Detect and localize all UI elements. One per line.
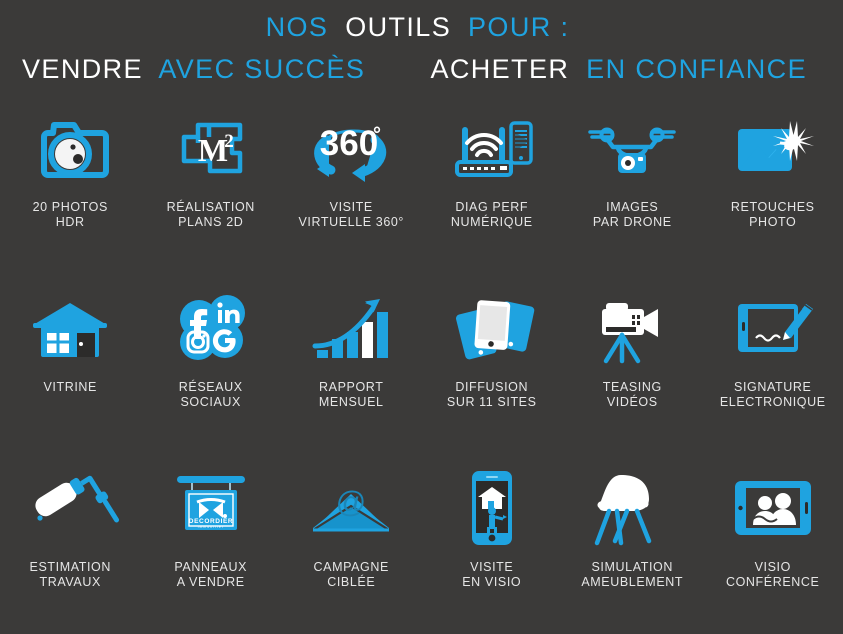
bar-chart-growth-icon — [281, 286, 422, 370]
tool-label: PANNEAUX A VENDRE — [174, 560, 247, 590]
sign-sub-text: immobilier — [197, 525, 224, 529]
for-sale-sign-icon: DECORDIER immobilier — [141, 466, 282, 550]
subtitle-word-avec-succes: AVEC SUCCÈS — [158, 54, 365, 84]
drone-icon — [562, 106, 703, 190]
title-word-pour: POUR : — [468, 12, 569, 42]
tools-grid: 20 PHOTOS HDR M 2 RÉALISATION PLANS 2D — [0, 106, 843, 634]
tool-label: SIMULATION AMEUBLEMENT — [581, 560, 683, 590]
poster-root: NOS OUTILS POUR : VENDRE AVEC SUCCÈS ACH… — [0, 0, 843, 600]
subtitle-word-vendre: VENDRE — [22, 54, 143, 84]
tool-item-realisation-plans-2d[interactable]: M 2 RÉALISATION PLANS 2D — [141, 106, 282, 274]
tool-label: RETOUCHES PHOTO — [731, 200, 815, 230]
subtitle-row: VENDRE AVEC SUCCÈS ACHETER EN CONFIANCE — [0, 52, 843, 86]
e-signature-icon — [703, 286, 843, 370]
tool-item-20-photos-hdr[interactable]: 20 PHOTOS HDR — [0, 106, 141, 274]
tool-label: DIFFUSION SUR 11 SITES — [447, 380, 537, 410]
subtitle-left: VENDRE AVEC SUCCÈS — [22, 52, 390, 86]
tool-item-visite-virtuelle-360[interactable]: 360 ° VISITE VIRTUELLE 360° — [281, 106, 422, 274]
tool-item-estimation-travaux[interactable]: ESTIMATION TRAVAUX — [0, 466, 141, 634]
page-title: NOS OUTILS POUR : — [0, 10, 843, 44]
floorplan-m2-icon: M 2 — [141, 106, 282, 190]
subtitle-word-acheter: ACHETER — [430, 54, 569, 84]
tool-label: RAPPORT MENSUEL — [319, 380, 384, 410]
photo-retouch-icon — [703, 106, 843, 190]
video-camera-icon — [562, 286, 703, 370]
tool-label: 20 PHOTOS HDR — [33, 200, 108, 230]
camera-icon — [0, 106, 141, 190]
tool-label: VISITE VIRTUELLE 360° — [298, 200, 404, 230]
bar-4 — [362, 322, 373, 358]
bar-1 — [317, 350, 328, 358]
tool-label: SIGNATURE ELECTRONIQUE — [720, 380, 826, 410]
tool-label: VITRINE — [43, 380, 97, 395]
tool-item-visio-conference[interactable]: VISIO CONFÉRENCE — [703, 466, 843, 634]
tool-item-retouches-photo[interactable]: RETOUCHES PHOTO — [703, 106, 843, 274]
phone-visit-icon — [422, 466, 563, 550]
subtitle-right: ACHETER EN CONFIANCE — [390, 52, 821, 86]
360-degrees-icon: 360 ° — [281, 106, 422, 190]
tool-label: VISIO CONFÉRENCE — [726, 560, 820, 590]
shop-window-icon — [0, 286, 141, 370]
bar-5 — [377, 312, 388, 358]
tool-item-campagne-ciblee[interactable]: @ CAMPAGNE CIBLÉE — [281, 466, 422, 634]
tool-item-visite-en-visio[interactable]: VISITE EN VISIO — [422, 466, 563, 634]
degree-sign: ° — [373, 124, 381, 146]
tool-label: CAMPAGNE CIBLÉE — [314, 560, 389, 590]
paint-roller-icon — [0, 466, 141, 550]
envelope-at-icon: @ — [281, 466, 422, 550]
tool-label: VISITE EN VISIO — [462, 560, 521, 590]
sign-brand-text: DECORDIER — [189, 518, 233, 525]
title-word-nos: NOS — [266, 12, 329, 42]
tablets-icon — [422, 286, 563, 370]
tool-label: ESTIMATION TRAVAUX — [30, 560, 111, 590]
tool-label: TEASING VIDÉOS — [603, 380, 662, 410]
title-word-outils: OUTILS — [345, 12, 451, 42]
tool-item-panneaux-a-vendre[interactable]: DECORDIER immobilier PANNEAUX A VENDRE — [141, 466, 282, 634]
tool-item-signature-electronique[interactable]: SIGNATURE ELECTRONIQUE — [703, 286, 843, 454]
tool-item-simulation-ameublement[interactable]: SIMULATION AMEUBLEMENT — [562, 466, 703, 634]
subtitle-word-en-confiance: EN CONFIANCE — [586, 54, 807, 84]
m2-exponent: 2 — [224, 131, 234, 152]
tool-item-diffusion-sur-11-sites[interactable]: DIFFUSION SUR 11 SITES — [422, 286, 563, 454]
at-sign-glyph: @ — [336, 486, 366, 519]
tool-label: IMAGES PAR DRONE — [593, 200, 672, 230]
tool-item-diag-perf-numerique[interactable]: DIAG PERF NUMÉRIQUE — [422, 106, 563, 274]
tool-item-images-par-drone[interactable]: IMAGES PAR DRONE — [562, 106, 703, 274]
tool-label: DIAG PERF NUMÉRIQUE — [451, 200, 533, 230]
360-number: 360 — [320, 124, 378, 163]
tool-item-reseaux-sociaux[interactable]: RÉSEAUX SOCIAUX — [141, 286, 282, 454]
header: NOS OUTILS POUR : VENDRE AVEC SUCCÈS ACH… — [0, 0, 843, 86]
tool-item-vitrine[interactable]: VITRINE — [0, 286, 141, 454]
tool-label: RÉALISATION PLANS 2D — [167, 200, 255, 230]
video-call-tablet-icon — [703, 466, 843, 550]
social-networks-icon — [141, 286, 282, 370]
router-wifi-icon — [422, 106, 563, 190]
chair-icon — [562, 466, 703, 550]
tool-item-teasing-videos[interactable]: TEASING VIDÉOS — [562, 286, 703, 454]
tool-label: RÉSEAUX SOCIAUX — [179, 380, 243, 410]
tool-item-rapport-mensuel[interactable]: RAPPORT MENSUEL — [281, 286, 422, 454]
